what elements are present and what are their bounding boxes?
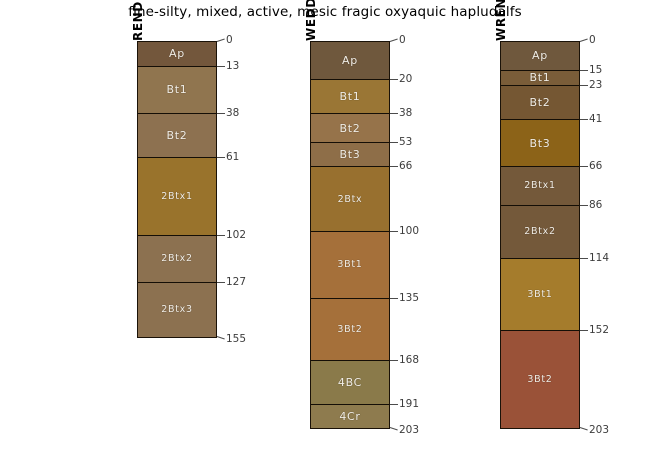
- depth-label: 168: [399, 355, 419, 366]
- depth-tick: [217, 113, 225, 114]
- depth-label: 61: [226, 152, 239, 163]
- horizon-label: Bt3: [340, 149, 361, 160]
- depth-tick: [580, 39, 588, 42]
- depth-label: 86: [589, 200, 602, 211]
- horizon-label: Bt2: [530, 97, 551, 108]
- depth-tick: [580, 205, 588, 206]
- depth-label: 38: [399, 108, 412, 119]
- depth-tick: [580, 258, 588, 259]
- depth-tick: [390, 404, 398, 405]
- depth-label: 38: [226, 108, 239, 119]
- horizon-label: 4Cr: [339, 411, 360, 422]
- horizon-bt3: Bt3: [311, 143, 389, 168]
- depth-tick: [390, 166, 398, 167]
- horizon-3bt2: 3Bt2: [311, 299, 389, 362]
- profile-column: ApBt1Bt2Bt32Btx12Btx23Bt13Bt2: [500, 41, 580, 429]
- horizon-4cr: 4Cr: [311, 405, 389, 428]
- horizon-2btx: 2Btx: [311, 167, 389, 232]
- depth-label: 0: [399, 35, 406, 46]
- depth-label: 53: [399, 137, 412, 148]
- horizon-bt2: Bt2: [138, 114, 216, 158]
- depth-tick: [217, 39, 225, 42]
- profile-label-rend: REND: [131, 1, 145, 41]
- depth-tick: [580, 166, 588, 167]
- horizon-label: Bt1: [340, 91, 361, 102]
- depth-label: 41: [589, 114, 602, 125]
- depth-label: 66: [399, 161, 412, 172]
- horizon-label: 2Btx2: [524, 227, 555, 237]
- horizon-bt3: Bt3: [501, 120, 579, 168]
- depth-label: 152: [589, 325, 609, 336]
- horizon-2btx2: 2Btx2: [501, 206, 579, 259]
- horizon-label: 3Bt2: [337, 325, 362, 335]
- horizon-label: Bt1: [530, 72, 551, 83]
- horizon-bt1: Bt1: [311, 80, 389, 114]
- horizon-label: 2Btx1: [161, 192, 192, 202]
- horizon-label: Bt2: [167, 130, 188, 141]
- profile-label-wrengart: WRENGART: [494, 0, 508, 41]
- depth-tick: [217, 336, 225, 339]
- horizon-3bt1: 3Bt1: [501, 259, 579, 331]
- depth-tick: [580, 85, 588, 86]
- depth-tick: [580, 330, 588, 331]
- depth-tick: [217, 235, 225, 236]
- depth-tick: [390, 39, 398, 42]
- horizon-bt1: Bt1: [501, 71, 579, 86]
- depth-label: 102: [226, 230, 246, 241]
- depth-label: 100: [399, 226, 419, 237]
- depth-label: 23: [589, 80, 602, 91]
- depth-tick: [390, 298, 398, 299]
- horizon-label: 3Bt1: [527, 290, 552, 300]
- horizon-label: 2Btx3: [161, 305, 192, 315]
- horizon-ap: Ap: [311, 42, 389, 80]
- horizon-label: 2Btx: [338, 195, 363, 205]
- depth-label: 203: [399, 425, 419, 436]
- depth-tick: [390, 360, 398, 361]
- depth-tick: [580, 119, 588, 120]
- horizon-label: Ap: [342, 55, 358, 66]
- depth-tick: [390, 427, 398, 430]
- depth-label: 155: [226, 334, 246, 345]
- profile-label-weddel: WEDDEL: [304, 0, 318, 41]
- horizon-ap: Ap: [138, 42, 216, 67]
- depth-label: 20: [399, 74, 412, 85]
- horizon-ap: Ap: [501, 42, 579, 71]
- depth-label: 135: [399, 293, 419, 304]
- depth-label: 0: [226, 35, 233, 46]
- horizon-label: Bt1: [167, 84, 188, 95]
- horizon-bt1: Bt1: [138, 67, 216, 115]
- depth-label: 13: [226, 61, 239, 72]
- horizon-label: 2Btx1: [524, 181, 555, 191]
- horizon-label: 3Bt2: [527, 375, 552, 385]
- horizon-2btx1: 2Btx1: [138, 158, 216, 236]
- horizon-label: Ap: [169, 48, 185, 59]
- depth-label: 66: [589, 161, 602, 172]
- depth-tick: [580, 427, 588, 430]
- horizon-bt2: Bt2: [501, 86, 579, 120]
- profile-column: ApBt1Bt22Btx12Btx22Btx3: [137, 41, 217, 338]
- horizon-label: 2Btx2: [161, 254, 192, 264]
- horizon-3bt2: 3Bt2: [501, 331, 579, 428]
- horizon-label: Bt2: [340, 123, 361, 134]
- depth-label: 127: [226, 277, 246, 288]
- horizon-2btx1: 2Btx1: [501, 167, 579, 205]
- depth-tick: [390, 231, 398, 232]
- depth-label: 191: [399, 399, 419, 410]
- horizon-4bc: 4BC: [311, 361, 389, 405]
- depth-tick: [217, 282, 225, 283]
- horizon-label: 3Bt1: [337, 260, 362, 270]
- depth-tick: [217, 157, 225, 158]
- depth-tick: [390, 142, 398, 143]
- profile-column: ApBt1Bt2Bt32Btx3Bt13Bt24BC4Cr: [310, 41, 390, 429]
- page-title: fine-silty, mixed, active, mesic fragic …: [0, 4, 650, 20]
- horizon-2btx2: 2Btx2: [138, 236, 216, 284]
- horizon-2btx3: 2Btx3: [138, 283, 216, 336]
- horizon-label: 4BC: [338, 377, 362, 388]
- depth-tick: [390, 113, 398, 114]
- depth-label: 203: [589, 425, 609, 436]
- horizon-label: Ap: [532, 50, 548, 61]
- depth-tick: [217, 66, 225, 67]
- horizon-3bt1: 3Bt1: [311, 232, 389, 299]
- depth-label: 0: [589, 35, 596, 46]
- depth-tick: [390, 79, 398, 80]
- depth-label: 114: [589, 253, 609, 264]
- horizon-label: Bt3: [530, 138, 551, 149]
- depth-tick: [580, 70, 588, 71]
- depth-label: 15: [589, 65, 602, 76]
- horizon-bt2: Bt2: [311, 114, 389, 143]
